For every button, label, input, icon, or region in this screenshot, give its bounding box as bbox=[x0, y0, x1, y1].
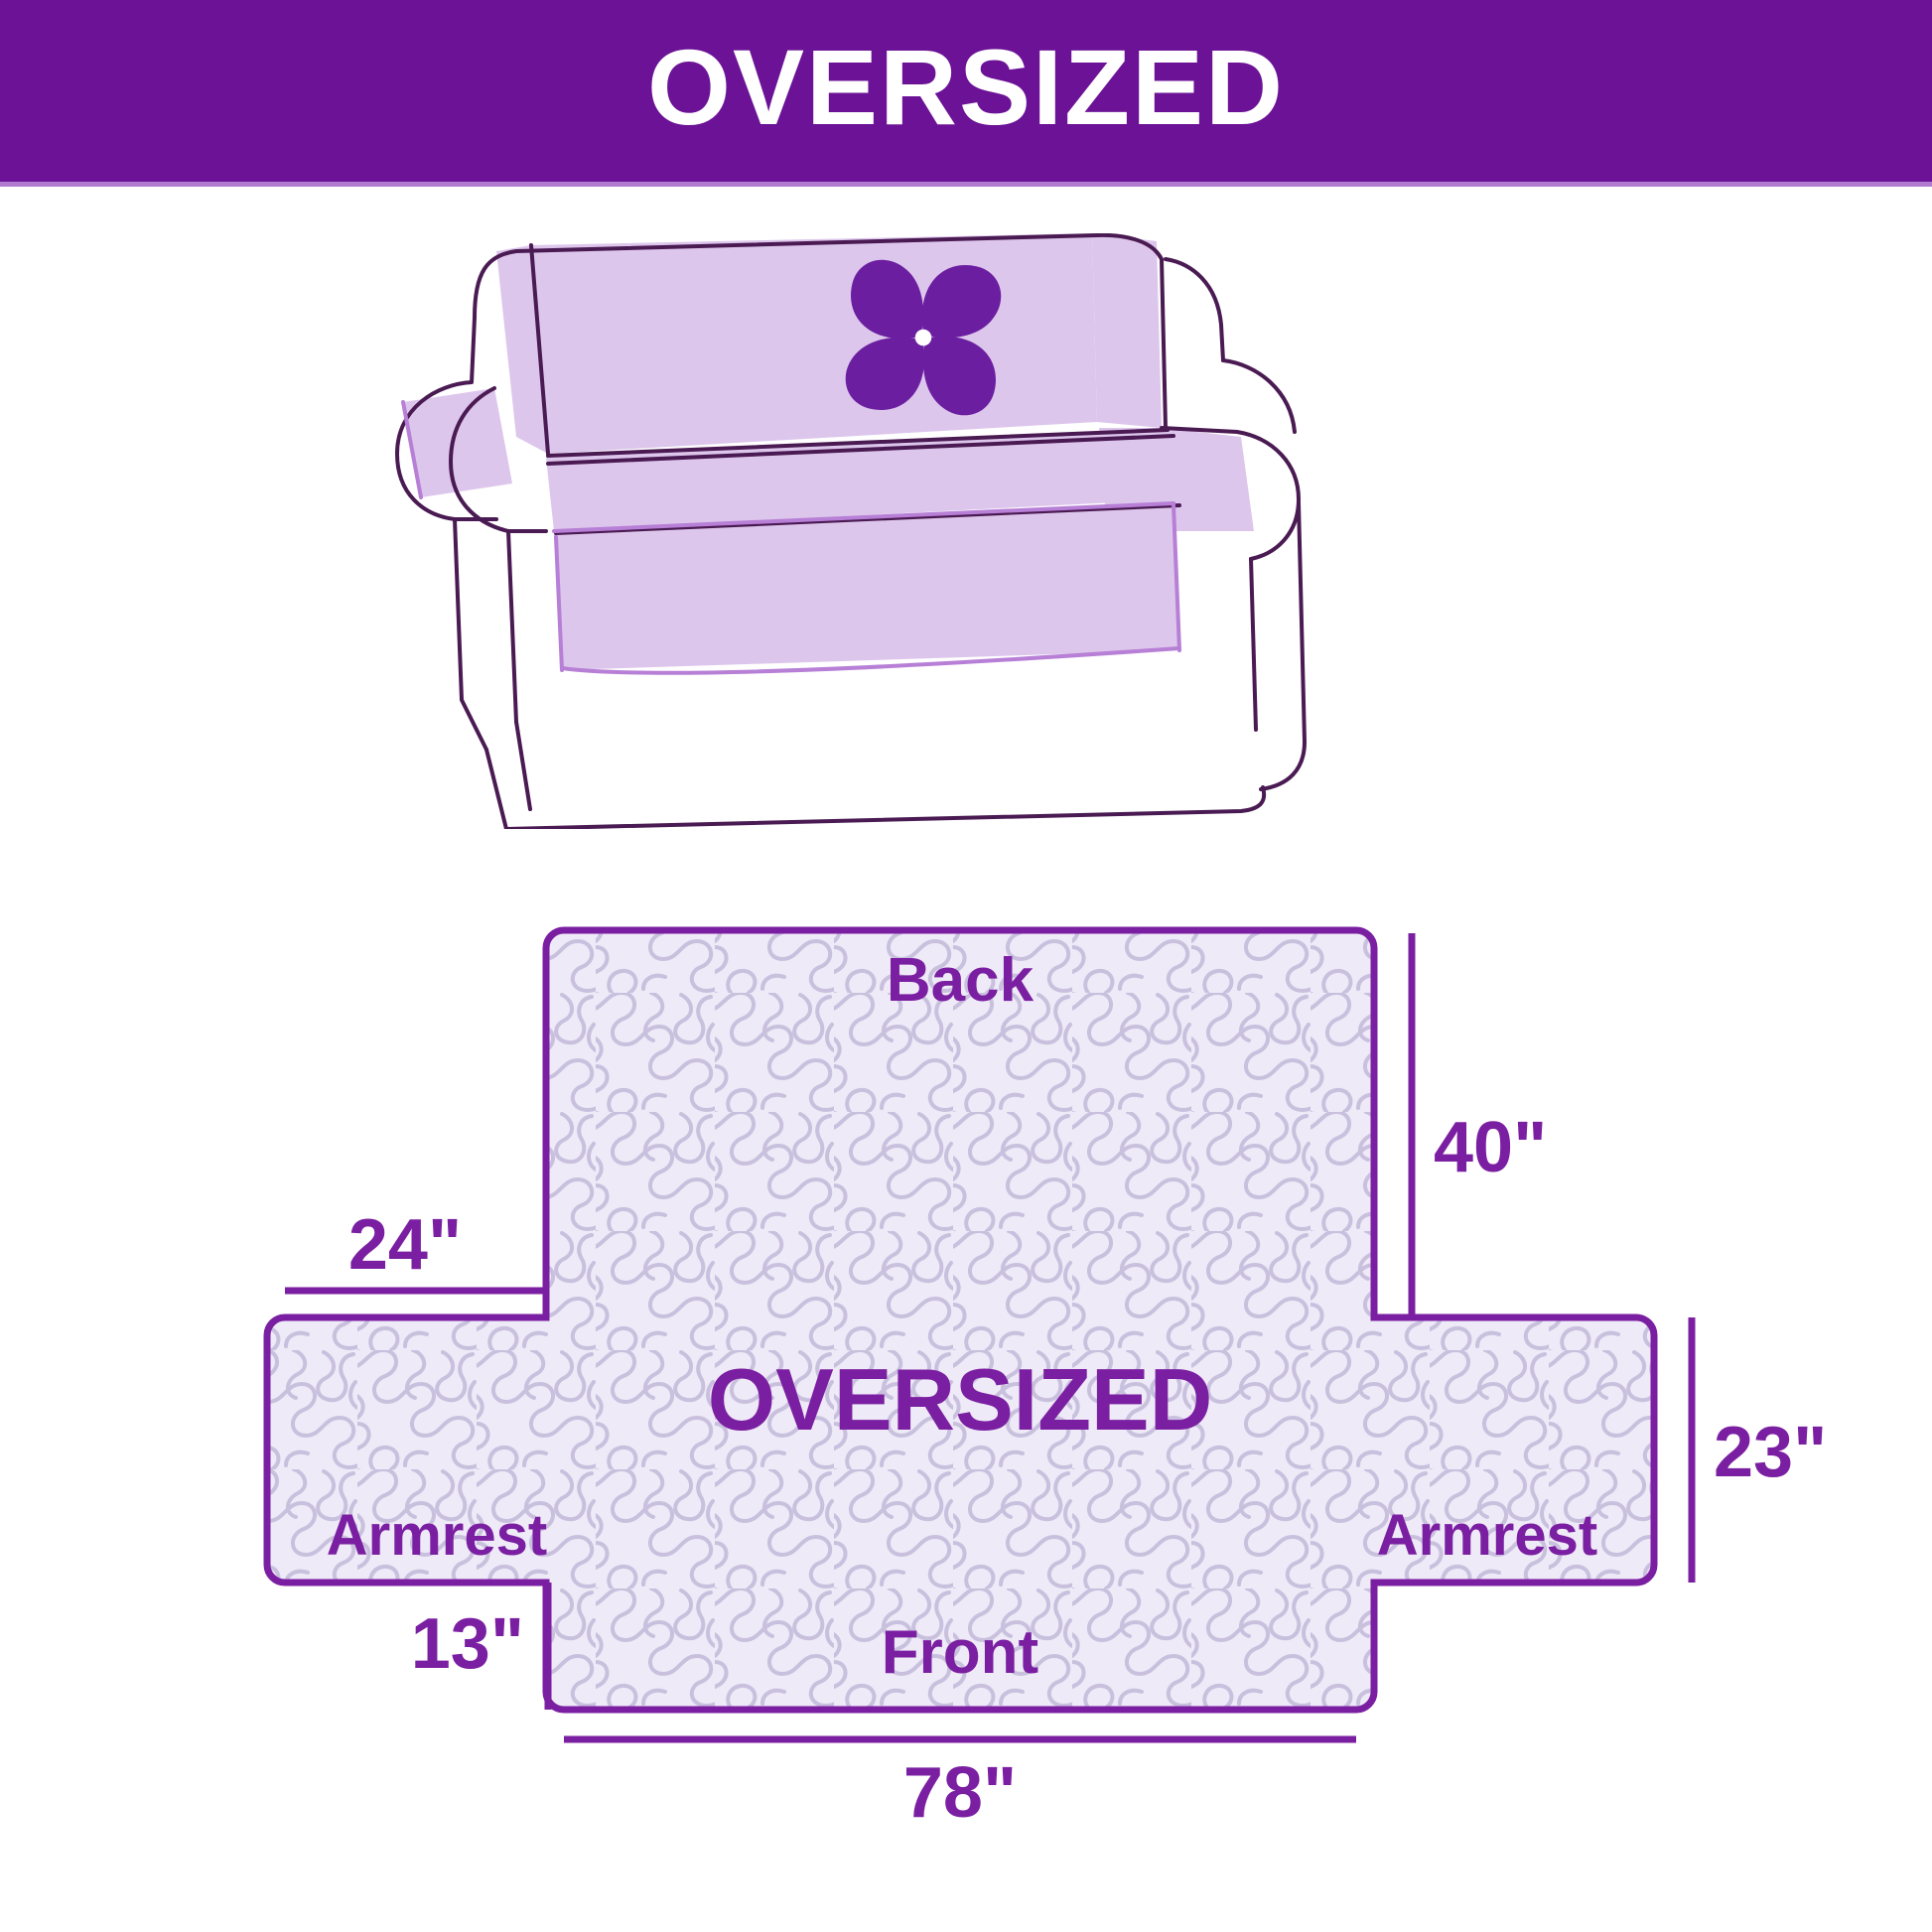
dimension-label-front-height: 13" bbox=[411, 1604, 524, 1684]
banner-underline bbox=[0, 182, 1932, 187]
dimension-diagram: 40" 24" 23" 13" 78" Back Front Armrest A… bbox=[0, 874, 1932, 1932]
panel-label-armrest-right: Armrest bbox=[1377, 1503, 1597, 1568]
panel-label-back: Back bbox=[887, 946, 1035, 1015]
panel-label-front: Front bbox=[882, 1618, 1038, 1687]
dimension-label-armrest-height: 23" bbox=[1714, 1413, 1827, 1492]
diagram-center-label: OVERSIZED bbox=[708, 1350, 1213, 1449]
banner-title: OVERSIZED bbox=[647, 34, 1285, 141]
header-banner: OVERSIZED bbox=[0, 0, 1932, 182]
slipcover-flat-shape bbox=[267, 930, 1654, 1710]
dimension-label-armrest-width: 24" bbox=[348, 1205, 462, 1285]
dimension-label-front-width: 78" bbox=[903, 1753, 1017, 1833]
size-chart-page: OVERSIZED bbox=[0, 0, 1932, 1932]
dimension-label-back-height: 40" bbox=[1434, 1108, 1547, 1187]
sofa-illustration bbox=[367, 233, 1579, 829]
sofa-body bbox=[397, 233, 1305, 829]
panel-label-armrest-left: Armrest bbox=[327, 1503, 547, 1568]
